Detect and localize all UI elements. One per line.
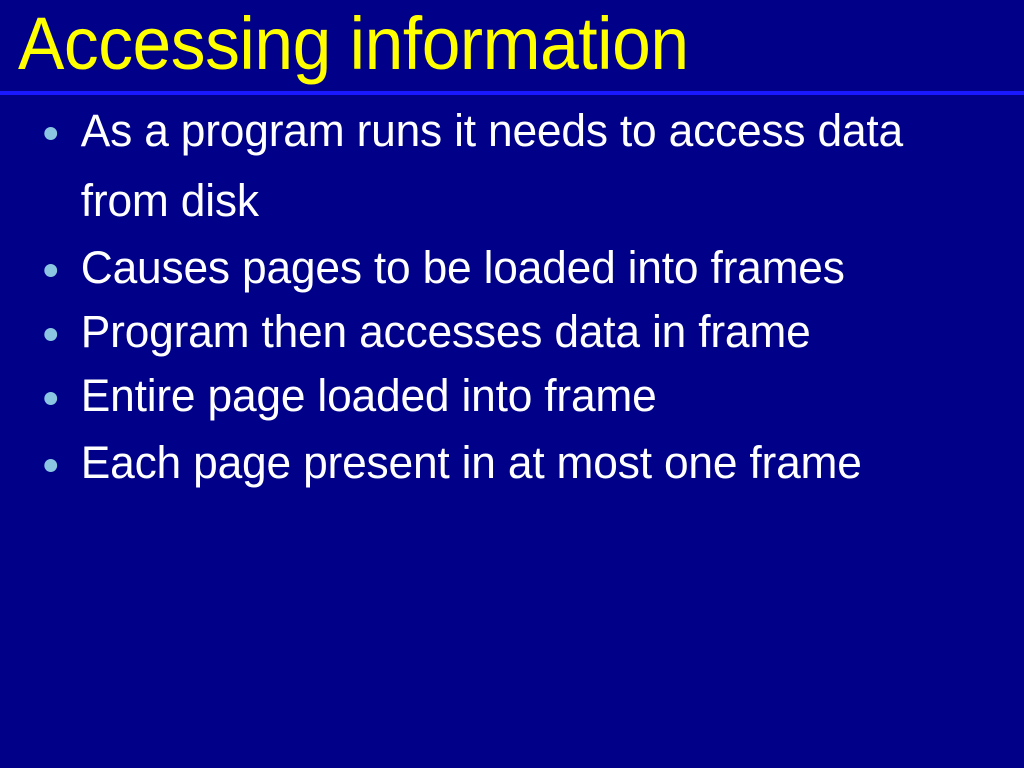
page-title: Accessing information xyxy=(18,1,689,87)
bullet-dot-icon xyxy=(44,328,57,341)
list-item: Each page present in at most one frame xyxy=(0,428,1009,498)
list-item: Program then accesses data in frame xyxy=(0,300,1009,364)
bullet-text: Entire page loaded into frame xyxy=(81,364,999,428)
bullet-text: Causes pages to be loaded into frames xyxy=(81,236,999,300)
title-divider-rule xyxy=(0,91,1024,95)
slide-title-area: Accessing information xyxy=(0,0,1024,91)
bullet-text: As a program runs it needs to access dat… xyxy=(81,96,920,236)
slide-canvas: Accessing information As a program runs … xyxy=(0,0,1024,768)
bullet-dot-icon xyxy=(44,459,57,472)
bullet-dot-icon xyxy=(44,127,57,140)
bullet-list: As a program runs it needs to access dat… xyxy=(0,96,1024,498)
list-item: Causes pages to be loaded into frames xyxy=(0,236,1009,300)
list-item: As a program runs it needs to access dat… xyxy=(0,96,1009,236)
list-item: Entire page loaded into frame xyxy=(0,364,1009,428)
bullet-dot-icon xyxy=(44,264,57,277)
bullet-text: Program then accesses data in frame xyxy=(81,300,999,364)
slide-body-area: As a program runs it needs to access dat… xyxy=(0,96,1024,768)
bullet-text: Each page present in at most one frame xyxy=(81,428,920,498)
bullet-dot-icon xyxy=(44,392,57,405)
